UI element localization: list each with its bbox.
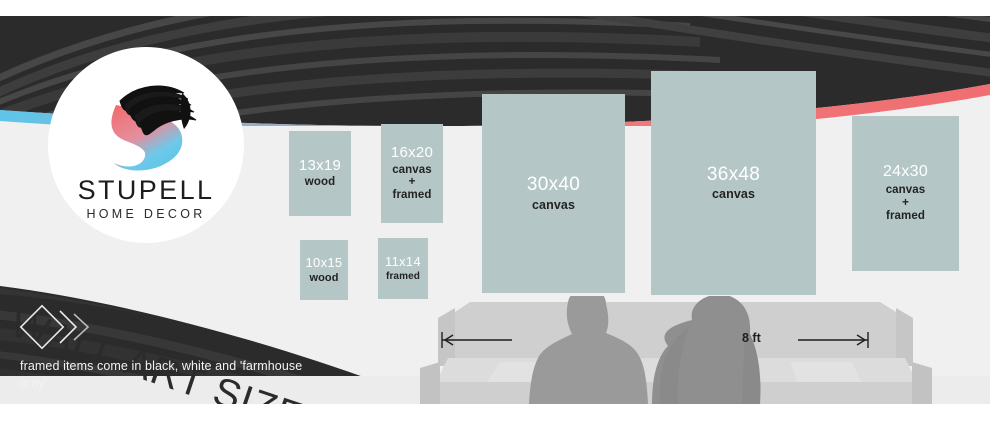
brand-name: STUPELL [48,175,244,206]
frame-type-label: wood [309,272,338,284]
frame-type-line: framed [392,189,432,202]
frame-16x20: 16x20canvas+framed [381,124,443,223]
frame-11x14: 11x14framed [378,238,428,299]
frame-type-line: canvas [886,184,926,197]
frame-type-line: canvas [712,187,755,201]
frame-type-line: + [392,176,432,189]
frame-size-label: 13x19 [299,158,341,174]
room-width-dimension [440,330,870,350]
frame-size-label: 10x15 [306,256,343,270]
frame-24x30: 24x30canvas+framed [852,116,959,271]
frame-type-label: canvas+framed [886,184,926,223]
frame-type-line: + [886,197,926,210]
frame-30x40: 30x40canvas [482,94,625,293]
frame-size-label: 11x14 [385,255,421,269]
frame-36x48: 36x48canvas [651,71,816,295]
dimension-label: 8 ft [742,331,761,345]
frame-13x19: 13x19wood [289,131,351,216]
frame-type-line: framed [886,210,926,223]
stupell-swoosh-logo [86,71,206,181]
brand-logo: STUPELL HOME DECOR [48,47,244,243]
bottom-white-margin [0,404,990,422]
frame-size-label: 16x20 [391,145,433,161]
brand-tagline: HOME DECOR [48,207,244,221]
frame-type-label: canvas+framed [392,164,432,203]
frame-type-label: canvas [532,198,575,212]
diamond-chevron-icon [18,303,100,353]
frame-type-line: wood [305,176,335,189]
frame-size-label: 24x30 [883,164,928,181]
wall-art-size-chart-graphic: 13x19wood16x20canvas+framed10x15wood11x1… [0,0,990,422]
frame-type-line: canvas [392,164,432,177]
frame-type-label: canvas [712,187,755,201]
frame-size-label: 36x48 [707,165,760,185]
top-white-margin [0,0,990,16]
frame-10x15: 10x15wood [300,240,348,300]
frame-type-line: wood [309,272,338,284]
frame-type-label: wood [305,176,335,189]
frame-color-note: framed items come in black, white and 'f… [20,358,320,393]
frame-type-line: canvas [532,198,575,212]
frame-size-label: 30x40 [527,175,580,195]
frame-type-label: framed [386,271,420,282]
frame-type-line: framed [386,271,420,282]
